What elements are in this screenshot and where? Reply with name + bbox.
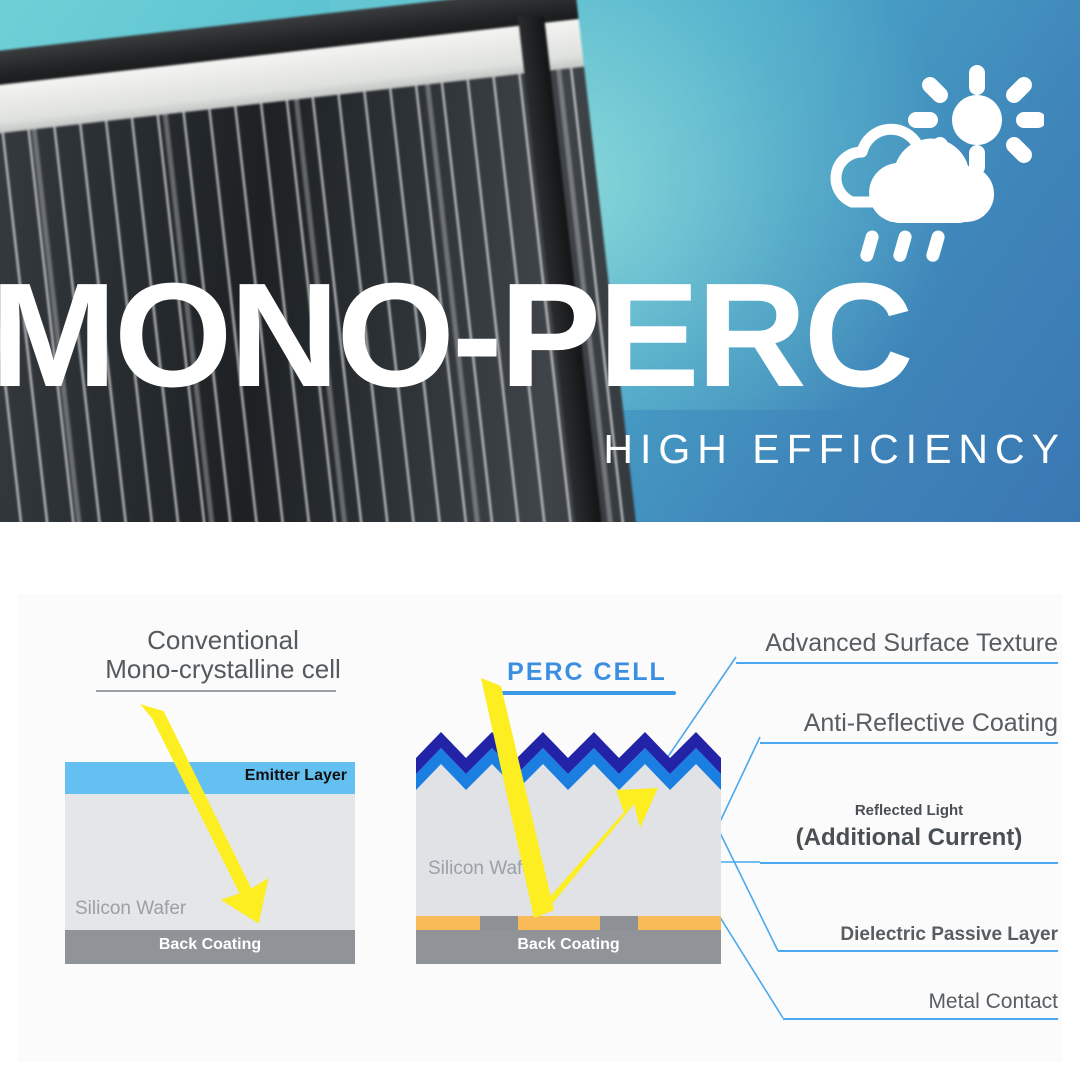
incident-light-arrow [55, 704, 315, 954]
callout-advanced-surface-texture: Advanced Surface Texture [736, 612, 1058, 664]
callout-anti-reflective-coating: Anti-Reflective Coating [760, 692, 1058, 744]
callout-reflected-light: Reflected Light (Additional Current) [760, 798, 1058, 864]
reflected-light-arrow [426, 678, 706, 948]
conventional-title-line2: Mono-crystalline cell [78, 655, 368, 684]
page-subtitle: HIGH EFFICIENCY [603, 426, 1066, 473]
callout-label: Anti-Reflective Coating [804, 709, 1058, 738]
callout-label: Advanced Surface Texture [765, 629, 1058, 658]
conventional-title-rule [96, 690, 336, 692]
conventional-cell-stack: Emitter Layer Silicon Wafer Back Coating [65, 762, 355, 964]
callout-underline [736, 662, 1058, 664]
sun-cloud-rain-icon [814, 62, 1044, 277]
conventional-cell-title: Conventional Mono-crystalline cell [78, 626, 368, 684]
callout-label-reflected-light: Reflected Light [760, 802, 1058, 819]
callout-underline [783, 1018, 1058, 1020]
page-title: MONO-PERC [0, 272, 1080, 399]
callout-underline [760, 862, 1058, 864]
conventional-title-line1: Conventional [78, 626, 368, 655]
callout-label: Dielectric Passive Layer [840, 924, 1058, 946]
callout-underline [760, 742, 1058, 744]
perc-cell-stack: Silicon Wafer Back Coating [416, 730, 721, 964]
callout-label: Metal Contact [928, 990, 1058, 1014]
callout-label-additional-current: (Additional Current) [760, 824, 1058, 852]
hero-banner: MONO-PERC HIGH EFFICIENCY [0, 0, 1080, 522]
cell-comparison-diagram: Conventional Mono-crystalline cell Emitt… [18, 594, 1062, 1062]
callout-underline [778, 950, 1058, 952]
callout-dielectric-passive-layer: Dielectric Passive Layer [778, 912, 1058, 952]
callout-metal-contact: Metal Contact [783, 980, 1058, 1020]
